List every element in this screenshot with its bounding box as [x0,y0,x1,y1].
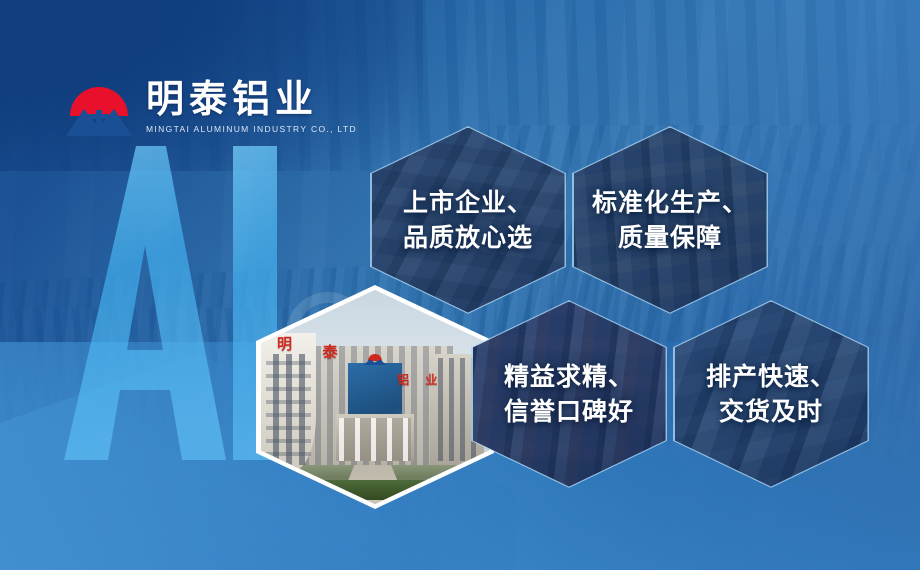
feature-label-3: 精益求精、 信誉口碑好 [504,359,634,430]
photo-roof-sign-mid: 泰 [323,341,338,362]
logo-wordmark: 明泰铝业 MINGTAI ALUMINUM INDUSTRY CO., LTD [146,80,357,134]
logo-chinese-name: 明泰铝业 [146,80,357,118]
feature-label-2: 标准化生产、 质量保障 [592,185,748,256]
photo-entrance-columns [339,418,412,461]
photo-roof-logo-icon [364,354,386,365]
feature-label-1: 上市企业、 品质放心选 [403,185,533,256]
mingtai-sun-mountain-icon [64,76,134,138]
photo-left-windows [266,354,312,465]
logo-english-name: MINGTAI ALUMINUM INDUSTRY CO., LTD [146,125,357,134]
feature-label-4: 排产快速、 交货及时 [706,359,836,430]
banner-root: 明泰铝业 MINGTAI ALUMINUM INDUSTRY CO., LTD … [0,0,920,570]
photo-roof-sign-right: 铝 业 [397,371,443,388]
photo-roof-sign-left: 明 [277,333,292,354]
company-logo[interactable]: 明泰铝业 MINGTAI ALUMINUM INDUSTRY CO., LTD [64,76,357,138]
